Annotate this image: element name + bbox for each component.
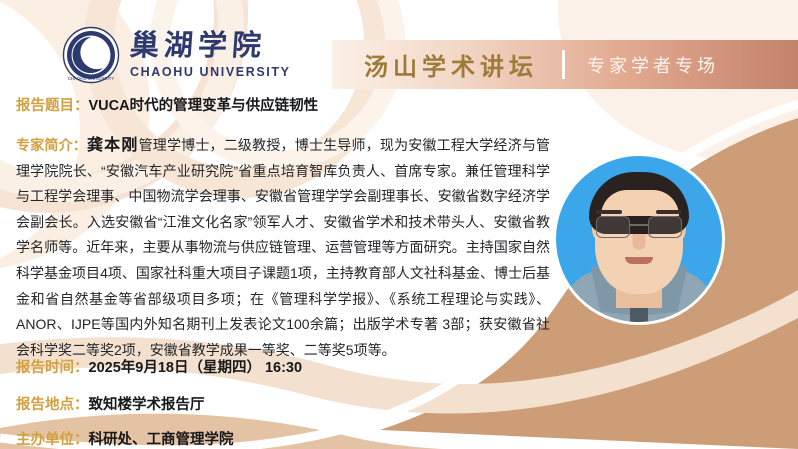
- bio-label: 专家简介：: [16, 137, 87, 153]
- banner-sub-title: 专家学者专场: [587, 52, 719, 78]
- banner-main-title: 汤山学术讲坛: [364, 47, 538, 82]
- university-name-en: CHAOHU UNIVERSITY: [130, 66, 291, 79]
- seminar-poster: CHAOHU UNIVERSITY 巢湖学院 CHAOHU UNIVERSITY…: [0, 0, 798, 449]
- topic-row: 报告题目：VUCA时代的管理变革与供应链韧性: [16, 96, 318, 116]
- portrait-brow-right: [656, 210, 682, 214]
- university-seal-icon: CHAOHU UNIVERSITY: [62, 26, 120, 84]
- time-value: 2025年9月18日（星期四） 16:30: [89, 360, 303, 376]
- place-value: 致知楼学术报告厅: [89, 397, 205, 413]
- banner-divider: [562, 50, 565, 79]
- bio-block: 专家简介：龚本刚管理学博士，二级教授，博士生导师，现为安徽工程大学经济与管理学院…: [16, 133, 550, 363]
- banner-bar: 汤山学术讲坛 专家学者专场: [332, 40, 798, 89]
- bio-text: 管理学博士，二级教授，博士生导师，现为安徽工程大学经济与管理学院院长、“安徽汽车…: [16, 137, 550, 358]
- portrait-mouth: [625, 257, 653, 264]
- speaker-name: 龚本刚: [87, 137, 139, 154]
- host-row: 主办单位：科研处、工商管理学院: [16, 430, 234, 449]
- university-name-cn: 巢湖学院: [129, 32, 292, 61]
- speaker-portrait: [556, 156, 722, 322]
- host-value: 科研处、工商管理学院: [89, 432, 234, 448]
- place-row: 报告地点：致知楼学术报告厅: [16, 395, 205, 415]
- svg-text:CHAOHU UNIVERSITY: CHAOHU UNIVERSITY: [68, 76, 115, 81]
- university-logo-block: CHAOHU UNIVERSITY 巢湖学院 CHAOHU UNIVERSITY: [62, 26, 291, 84]
- time-row: 报告时间：2025年9月18日（星期四） 16:30: [16, 358, 302, 378]
- portrait-glasses-icon: [592, 216, 686, 236]
- topic-value: VUCA时代的管理变革与供应链韧性: [89, 98, 319, 114]
- topic-label: 报告题目：: [16, 98, 89, 114]
- time-label: 报告时间：: [16, 360, 89, 376]
- place-label: 报告地点：: [16, 397, 89, 413]
- portrait-brow-left: [596, 210, 622, 214]
- host-label: 主办单位：: [16, 432, 89, 448]
- portrait-nose: [633, 234, 646, 250]
